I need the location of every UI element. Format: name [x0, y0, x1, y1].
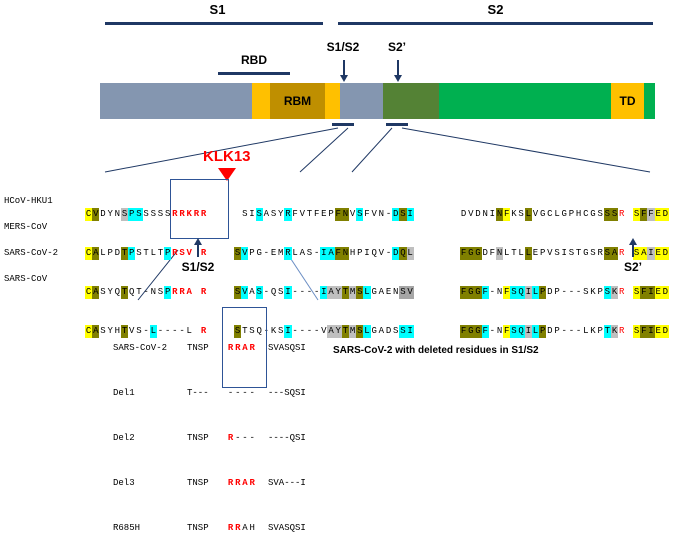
deletion-row-motif: RRAR [227, 476, 256, 491]
deletion-row-pre: TNSP [187, 341, 209, 356]
rbd-rule [218, 72, 290, 75]
alignment-row: SAIED [633, 247, 669, 260]
s2prime-arrow-icon [397, 60, 399, 76]
deletion-row-post: SVASQSI [268, 341, 306, 356]
tick-s1s2 [332, 123, 354, 126]
deletion-row-motif: ---- [227, 386, 256, 401]
segment-rbd-left [252, 83, 270, 119]
alignment-s2prime-label: S2’ [602, 260, 664, 274]
alignment-row: FGGF-NFSQILPDP---LKPTKR [460, 325, 625, 338]
deletion-table-pre: TNSP T--- TNSP TNSP TNSP [187, 311, 209, 551]
alignment-row: SFIED [633, 286, 669, 299]
alignment-block-3: DVDNINFKSLVGCLGPHCGSSSR FGGDFNLTLLEPVSIS… [460, 182, 625, 351]
domain-label-s2: S2 [338, 2, 653, 17]
alignment-name: MERS-CoV [4, 222, 47, 232]
alignment-s2prime-arrow-icon [632, 244, 634, 257]
deletion-row-pre: TNSP [187, 476, 209, 491]
deletion-row-motif: RRAH [227, 521, 256, 536]
deletion-motif-box [222, 307, 267, 388]
deletion-row-name: R685H [113, 521, 167, 536]
alignment-s1s2-arrow-icon [197, 244, 199, 257]
deletion-row-post: SVA---I [268, 476, 306, 491]
alignment-name: HCoV-HKU1 [4, 196, 53, 206]
deletion-row-name: Del1 [113, 386, 167, 401]
alignment-row: SISASYRFVTFEPFNVSFVN-DSI [234, 208, 414, 221]
alignment-names: HCoV-HKU1 MERS-CoV SARS-CoV-2 SARS-CoV [4, 182, 58, 299]
segment-rbm: RBM [270, 83, 325, 119]
deletion-row-pre: TNSP [187, 431, 209, 446]
deletion-row-motif: R--- [227, 431, 256, 446]
deletion-row-name: Del3 [113, 476, 167, 491]
alignment-name: SARS-CoV [4, 274, 47, 284]
domain-label-s1: S1 [105, 2, 330, 17]
alignment-row: FGGF-NFSQILPDP---SKPSKR [460, 286, 625, 299]
alignment-row: CASYQTQT-NSPRRA R [85, 286, 207, 299]
segment-s2-core [439, 83, 611, 119]
alignment-row: SFFED [633, 208, 669, 221]
klk13-label: KLK13 [203, 148, 251, 165]
td-label: TD [611, 83, 644, 119]
alignment-name: SARS-CoV-2 [4, 248, 58, 258]
segment-rbd-right [325, 83, 340, 119]
alignment-row: SVAS-QSI----IAYTMSLGAENSV [234, 286, 414, 299]
tick-s2prime [386, 123, 408, 126]
segment-fusion-peptide [383, 83, 439, 119]
deletion-row-post: ---SQSI [268, 386, 306, 401]
alignment-row: SVPG-EMRLAS-IAFNHPIQV-DQL [234, 247, 414, 260]
segment-td: TD [611, 83, 644, 119]
deletion-table-names: SARS-CoV-2 Del1 Del2 Del3 R685H [113, 311, 167, 551]
deletion-row-pre: TNSP [187, 521, 209, 536]
rbd-label: RBD [218, 53, 290, 67]
deletion-row-name: Del2 [113, 431, 167, 446]
segment-sd [340, 83, 383, 119]
alignment-row: SFIED [633, 325, 669, 338]
domain-rule-s1 [105, 22, 323, 25]
s1s2-arrow-icon [343, 60, 345, 76]
alignment-row: FGGDFNLTLLEPVSISTGSRSAR [460, 247, 625, 260]
s1s2-motif-box [170, 179, 229, 239]
alignment-row: DVDNINFKSLVGCLGPHCGSSSR [460, 208, 625, 221]
alignment-s1s2-label: S1/S2 [160, 260, 236, 274]
segment-ct [644, 83, 655, 119]
deletion-row-name: SARS-CoV-2 [113, 341, 167, 356]
deletion-caption: SARS-CoV-2 with deleted residues in S1/S… [333, 345, 539, 356]
rbm-label: RBM [270, 83, 325, 119]
spike-domain-schematic: RBM TD [100, 83, 655, 119]
domain-rule-s2 [338, 22, 653, 25]
alignment-row: CALPDTPSTLTPRSV R [85, 247, 207, 260]
deletion-table-post: SVASQSI ---SQSI ----QSI SVA---I SVASQSI [268, 311, 306, 551]
deletion-row-post: ----QSI [268, 431, 306, 446]
segment-ntd [100, 83, 252, 119]
site-label-s2prime: S2’ [362, 40, 432, 54]
deletion-row-pre: T--- [187, 386, 209, 401]
deletion-row-post: SVASQSI [268, 521, 306, 536]
